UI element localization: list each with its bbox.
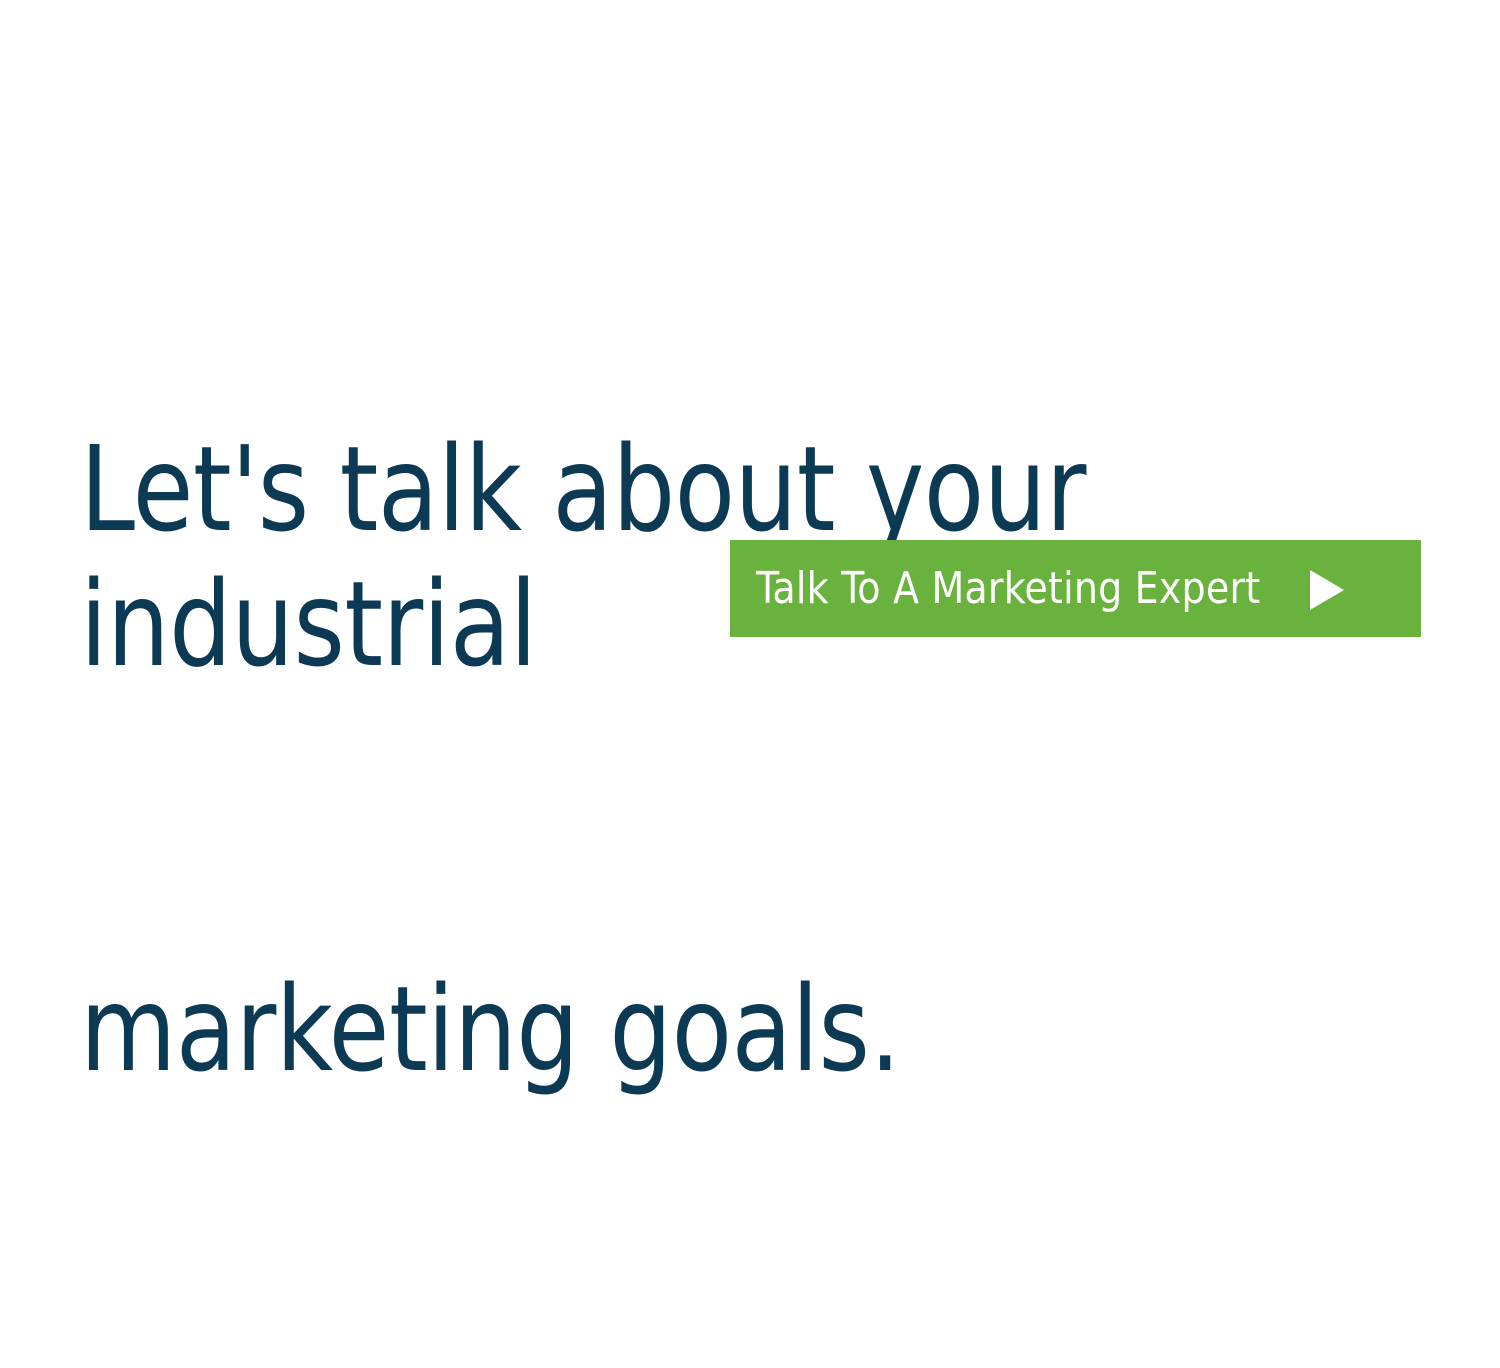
cta-button-label: Talk To A Marketing Expert bbox=[756, 567, 1260, 611]
page-headline: Let's talk about your industrial marketi… bbox=[80, 152, 1336, 1367]
cta-button-content: Talk To A Marketing Expert bbox=[756, 567, 1347, 611]
talk-to-a-marketing-expert-button[interactable]: Talk To A Marketing Expert bbox=[730, 540, 1421, 637]
headline-line-2: marketing goals. bbox=[80, 962, 1336, 1097]
cta-banner: Let's talk about your industrial marketi… bbox=[0, 0, 1500, 787]
play-triangle-right-icon bbox=[1307, 569, 1347, 611]
